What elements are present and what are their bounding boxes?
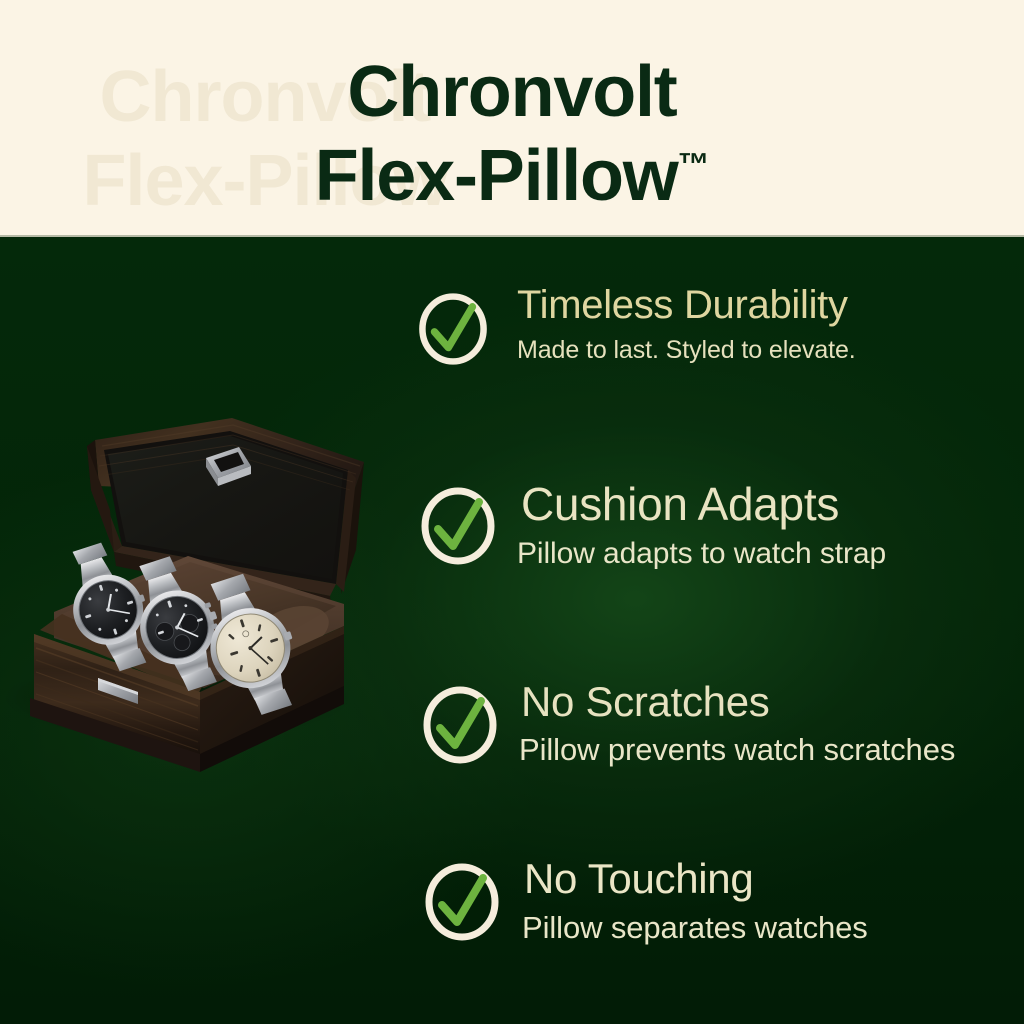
feature-item-timeless-durability[interactable]: Timeless Durability Made to last. Styled… bbox=[415, 283, 856, 367]
feature-title: No Scratches bbox=[521, 680, 955, 724]
check-circle-icon bbox=[419, 684, 501, 766]
page-title: Chronvolt Flex-Pillow™ bbox=[0, 50, 1024, 218]
feature-text: No Touching Pillow separates watches bbox=[521, 855, 868, 945]
check-circle-icon bbox=[421, 861, 503, 943]
header-divider bbox=[0, 235, 1024, 237]
feature-item-no-scratches[interactable]: No Scratches Pillow prevents watch scrat… bbox=[419, 678, 955, 767]
header-banner: Chronvolt Flex-Pillow Chronvolt Flex-Pil… bbox=[0, 0, 1024, 237]
brand-name-line1: Chronvolt bbox=[347, 52, 676, 132]
feature-text: Cushion Adapts Pillow adapts to watch st… bbox=[517, 479, 886, 570]
watch-box-photo bbox=[0, 398, 392, 818]
check-circle-icon bbox=[415, 291, 491, 367]
feature-subtitle: Pillow adapts to watch strap bbox=[517, 537, 886, 570]
feature-item-cushion-adapts[interactable]: Cushion Adapts Pillow adapts to watch st… bbox=[417, 479, 886, 570]
infographic-canvas: Chronvolt Flex-Pillow Chronvolt Flex-Pil… bbox=[0, 0, 1024, 1024]
feature-item-no-touching[interactable]: No Touching Pillow separates watches bbox=[421, 855, 868, 945]
product-name: Flex-Pillow bbox=[315, 136, 678, 216]
trademark-symbol: ™ bbox=[678, 146, 710, 182]
feature-title: Cushion Adapts bbox=[521, 481, 886, 529]
feature-title: No Touching bbox=[524, 857, 868, 901]
check-circle-icon bbox=[417, 485, 499, 567]
feature-subtitle: Pillow separates watches bbox=[522, 911, 868, 945]
feature-subtitle: Made to last. Styled to elevate. bbox=[517, 337, 856, 365]
feature-text: No Scratches Pillow prevents watch scrat… bbox=[519, 678, 955, 767]
feature-subtitle: Pillow prevents watch scratches bbox=[519, 733, 955, 767]
brand-name-line2: Flex-Pillow™ bbox=[0, 134, 1024, 218]
feature-title: Timeless Durability bbox=[517, 285, 856, 327]
feature-text: Timeless Durability Made to last. Styled… bbox=[509, 283, 856, 364]
